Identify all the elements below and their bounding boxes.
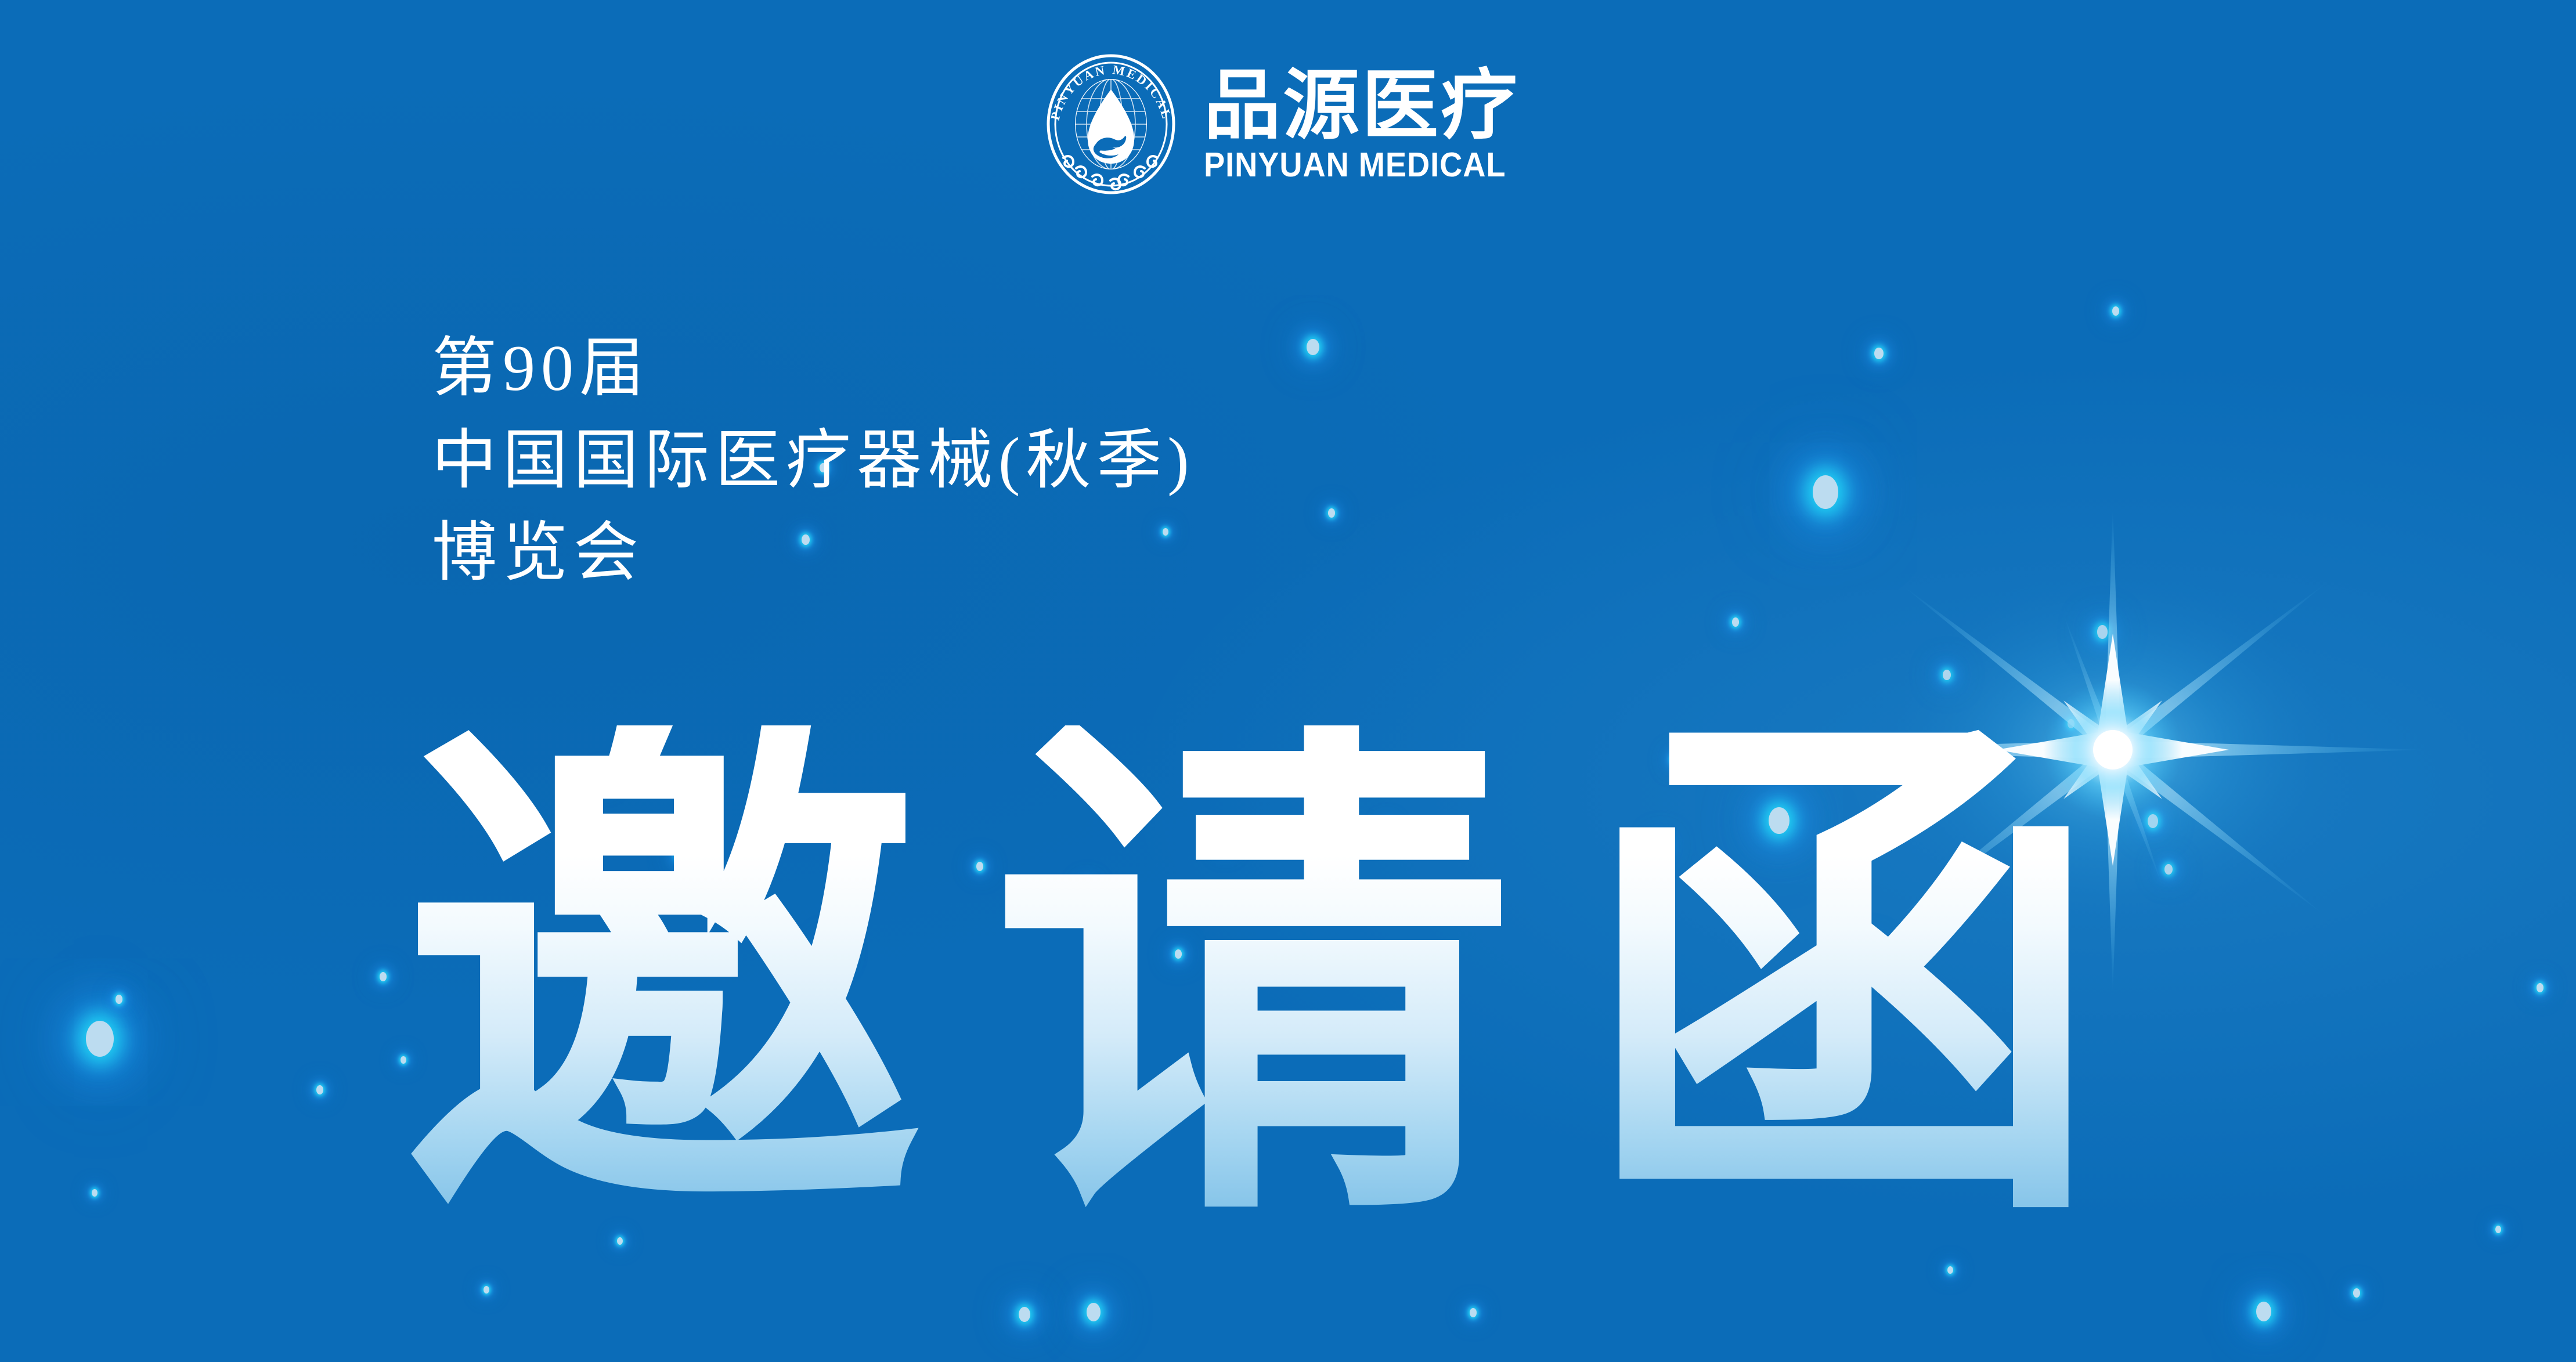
event-subtitle: 第90届 中国国际医疗器械(秋季) 博览会 [432,323,1195,599]
event-subtitle-line-2: 中国国际医疗器械(秋季) [432,415,1195,507]
headline-char-1: 邀 [401,725,923,1227]
event-subtitle-line-1: 第90届 [432,323,1195,415]
headline-char-2: 请 [991,725,1514,1227]
logo-wordmark-en: PINYUAN MEDICAL [1204,148,1506,182]
brand-logo: PINYUAN MEDICAL 品源医疗 PINYUAN MEDICAL [0,53,2576,195]
event-subtitle-line-3: 博览会 [432,507,1195,599]
circular-seal-emblem-icon: PINYUAN MEDICAL [1044,53,1178,195]
logo-wordmark: 品源医疗 PINYUAN MEDICAL [1204,66,1532,183]
logo-wordmark-cn: 品源医疗 [1204,66,1520,145]
headline-char-3: 函 [1582,725,2105,1227]
page-title: 邀 请 函 [401,725,2105,1227]
